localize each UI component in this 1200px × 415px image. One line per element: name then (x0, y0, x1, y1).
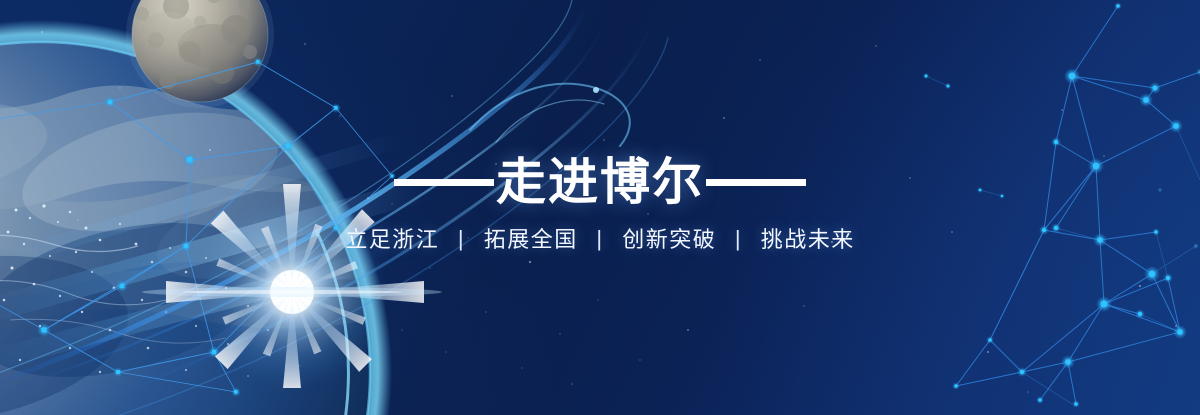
title-row: 走进博尔 (0, 152, 1200, 212)
page-subtitle: 立足浙江 | 拓展全国 | 创新突破 | 挑战未来 (0, 229, 1200, 251)
subtitle-item-2: 拓展全国 (484, 227, 578, 252)
hero-banner: 走进博尔 立足浙江 | 拓展全国 | 创新突破 | 挑战未来 (0, 0, 1200, 415)
headline-block: 走进博尔 立足浙江 | 拓展全国 | 创新突破 | 挑战未来 (0, 152, 1200, 251)
subtitle-item-4: 挑战未来 (761, 227, 855, 252)
moon (126, 0, 274, 108)
subtitle-separator-3: | (724, 228, 753, 250)
title-rule-left-icon (394, 179, 494, 186)
subtitle-separator-1: | (447, 228, 476, 250)
subtitle-item-3: 创新突破 (622, 227, 716, 252)
subtitle-separator-2: | (585, 228, 614, 250)
page-title: 走进博尔 (496, 157, 704, 207)
title-rule-right-icon (706, 179, 806, 186)
subtitle-item-1: 立足浙江 (345, 227, 439, 252)
